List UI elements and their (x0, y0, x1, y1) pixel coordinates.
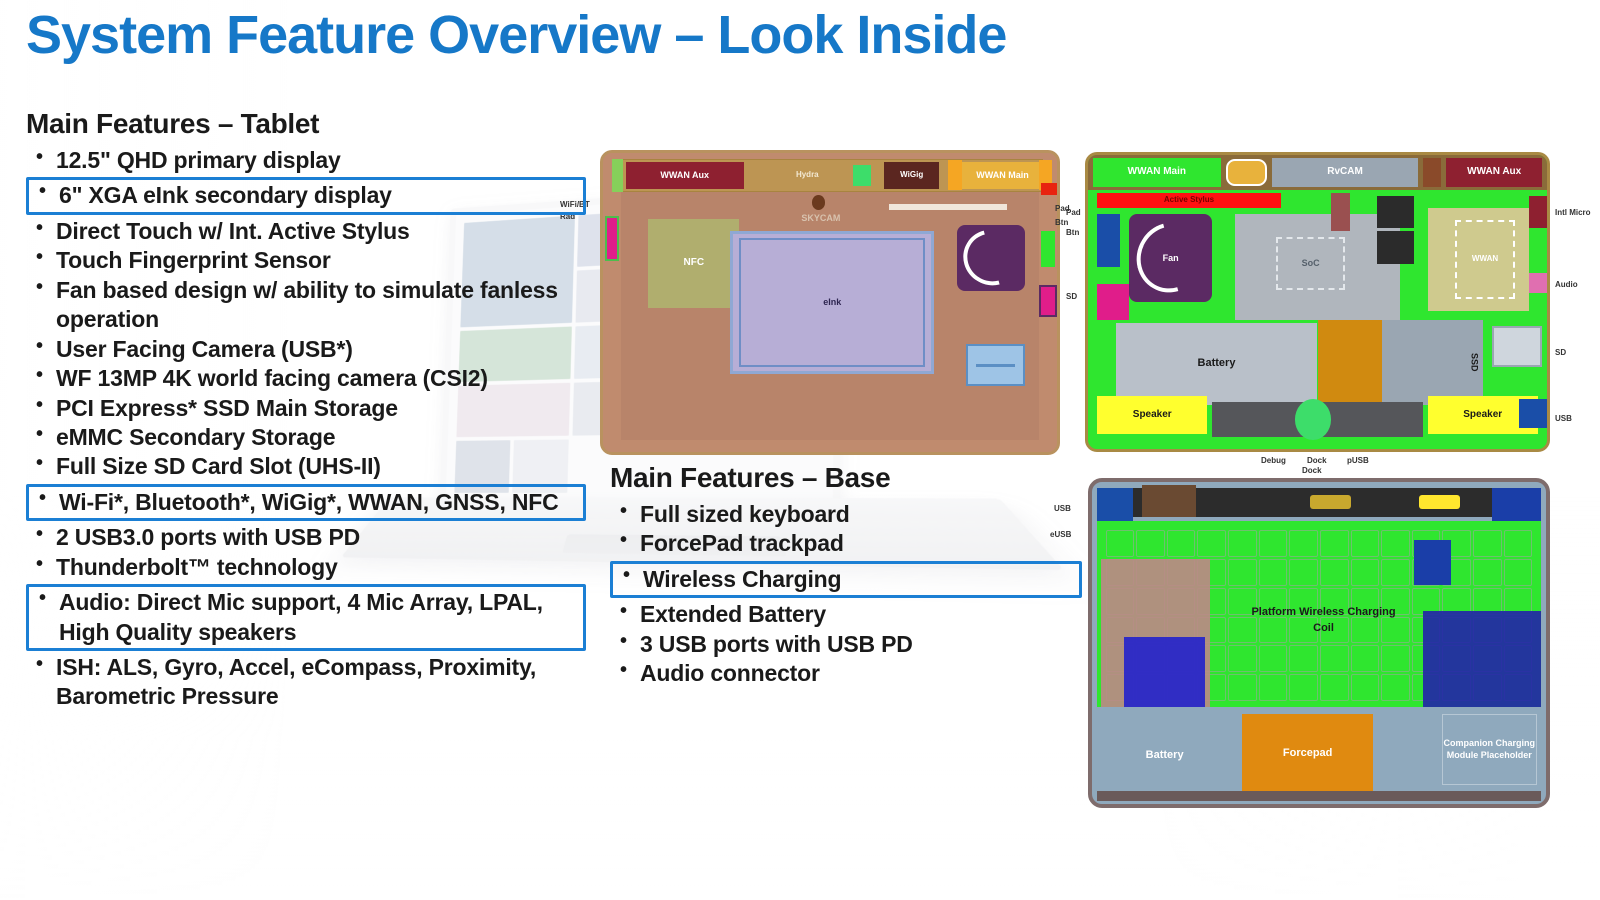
wireless-charge-area (1318, 320, 1382, 405)
fan-icon: Fan (1129, 214, 1212, 302)
right-connector (1414, 540, 1450, 585)
list-item: 3 USB ports with USB PD (610, 630, 1070, 659)
hydra-connector (853, 165, 871, 186)
dock-top-label: Dock (1302, 466, 1322, 475)
list-item-highlighted: 6" XGA eInk secondary display (26, 177, 586, 214)
forcepad: Forcepad (1242, 714, 1374, 795)
tablet-internals-board: WWAN Main RvCAM WWAN Aux Active Stylus F… (1085, 152, 1550, 452)
list-item-highlighted: Audio: Direct Mic support, 4 Mic Array, … (26, 584, 586, 651)
hydra-block: Hydra (766, 162, 848, 189)
intl-micro-port (1529, 196, 1547, 228)
dock-contact-right (1419, 495, 1460, 509)
component-cluster-a (1377, 196, 1414, 228)
list-item: Fan based design w/ ability to simulate … (26, 276, 586, 335)
component-blue (1097, 214, 1120, 267)
wwan-aux-antenna: WWAN Aux (626, 162, 744, 189)
component-connector (1331, 193, 1349, 231)
usb-port-right (1492, 488, 1542, 520)
speaker-left: Speaker (1097, 396, 1207, 434)
sd-card-port (1492, 326, 1542, 367)
list-item: 2 USB3.0 ports with USB PD (26, 523, 586, 552)
list-item: User Facing Camera (USB*) (26, 335, 586, 364)
intl-micro-side-label: Intl Micro (1555, 208, 1591, 217)
tablet-front-diagram: WWAN Aux Hydra WiGig WWAN Main NFC SKYCA… (600, 150, 1060, 455)
btn-side-label: Btn (1066, 228, 1079, 237)
antenna-ground-left (612, 159, 623, 192)
camera-module-icon (1226, 159, 1267, 185)
tablet-features-column: Main Features – Tablet 12.5" QHD primary… (26, 108, 586, 712)
dock-contact-mid (1310, 495, 1351, 509)
wwan-aux-antenna: WWAN Aux (1446, 158, 1542, 187)
list-item: ISH: ALS, Gyro, Accel, eCompass, Proximi… (26, 653, 586, 712)
tablet-features-list: 12.5" QHD primary display 6" XGA eInk se… (26, 146, 586, 712)
list-item-highlighted: Wireless Charging (610, 561, 1082, 598)
list-item: Thunderbolt™ technology (26, 553, 586, 582)
wwan-main-antenna: WWAN Main (1093, 158, 1222, 187)
rvcam-strip: RvCAM (1272, 158, 1419, 187)
left-blue-board (1124, 637, 1206, 708)
pusb-label: pUSB (1347, 456, 1369, 465)
list-item: Direct Touch w/ Int. Active Stylus (26, 217, 586, 246)
flex-connector (1423, 158, 1441, 187)
audio-port (1529, 273, 1547, 294)
base-features-column: Main Features – Base Full sized keyboard… (610, 462, 1070, 689)
list-item: ForcePad trackpad (610, 529, 1070, 558)
list-item: Extended Battery (610, 600, 1070, 629)
base-keyboard-diagram: Dock USB eUSB Platform Wireless Charging… (1088, 478, 1550, 808)
usb-port-left (1097, 488, 1133, 520)
btn-side-label: Btn (1055, 218, 1068, 227)
dock-connector-icon (1295, 399, 1332, 440)
ssd-label: SSD (1464, 320, 1482, 405)
pad-side-label: Pad (1055, 204, 1070, 213)
base-features-heading: Main Features – Base (610, 462, 1070, 494)
fan-icon (957, 225, 1025, 291)
list-item: Audio connector (610, 659, 1070, 688)
usb-side-label: USB (1555, 414, 1572, 423)
component-magenta (1097, 284, 1129, 319)
active-stylus-digitizer: Active Stylus (1097, 193, 1281, 208)
base-bottom-edge (1097, 791, 1542, 801)
sd-side-label: SD (1555, 348, 1566, 357)
battery: Battery (1116, 323, 1318, 405)
soc-package: SoC (1276, 237, 1345, 290)
wifi-bt-radio-connector (605, 216, 619, 261)
tablet-internals-diagram: WWAN Main RvCAM WWAN Aux Active Stylus F… (1085, 152, 1550, 452)
dock-label: Dock (1307, 456, 1327, 465)
wigig-module: WiGig (884, 162, 938, 189)
tablet-front-board: WWAN Aux Hydra WiGig WWAN Main NFC SKYCA… (600, 150, 1060, 455)
list-item: 12.5" QHD primary display (26, 146, 586, 175)
component-cluster-b (1377, 231, 1414, 263)
nfc-coil: NFC (648, 219, 739, 309)
skycam-lens-icon (812, 195, 826, 210)
wwan-module: WWAN (1455, 220, 1515, 299)
companion-charging-placeholder: Companion Charging Module Placeholder (1442, 714, 1537, 785)
list-item: Full sized keyboard (610, 500, 1070, 529)
charging-coil-label: Platform Wireless Charging Coil (1251, 588, 1396, 652)
list-item: WF 13MP 4K world facing camera (CSI2) (26, 364, 586, 393)
wwan-main-antenna: WWAN Main (962, 162, 1044, 189)
list-item: eMMC Secondary Storage (26, 423, 586, 452)
skycam-label: SKYCAM (776, 210, 867, 228)
audio-side-label: Audio (1555, 280, 1578, 289)
list-item: PCI Express* SSD Main Storage (26, 394, 586, 423)
side-connector-magenta (1039, 285, 1057, 318)
page-title: System Feature Overview – Look Inside (26, 4, 1006, 66)
hinge-block (1142, 485, 1196, 517)
eink-display: eInk (739, 238, 925, 367)
base-keyboard-board: Platform Wireless Charging Coil Battery … (1088, 478, 1550, 808)
side-connector-green (1041, 231, 1055, 267)
antenna-feed-left (948, 160, 962, 190)
list-item-highlighted: Wi-Fi*, Bluetooth*, WiGig*, WWAN, GNSS, … (26, 484, 586, 521)
debug-label: Debug (1261, 456, 1286, 465)
usb-port (1519, 399, 1547, 428)
sd-side-label: SD (1066, 292, 1077, 301)
base-battery-label: Battery (1115, 727, 1215, 785)
mic-array-strip (889, 204, 1007, 210)
side-connector-top (1041, 183, 1057, 195)
tablet-features-heading: Main Features – Tablet (26, 108, 586, 140)
list-item: Touch Fingerprint Sensor (26, 246, 586, 275)
list-item: Full Size SD Card Slot (UHS-II) (26, 452, 586, 481)
sd-card-slot (966, 344, 1025, 386)
right-blue-board (1423, 611, 1541, 708)
base-features-list: Full sized keyboard ForcePad trackpad Wi… (610, 500, 1070, 689)
